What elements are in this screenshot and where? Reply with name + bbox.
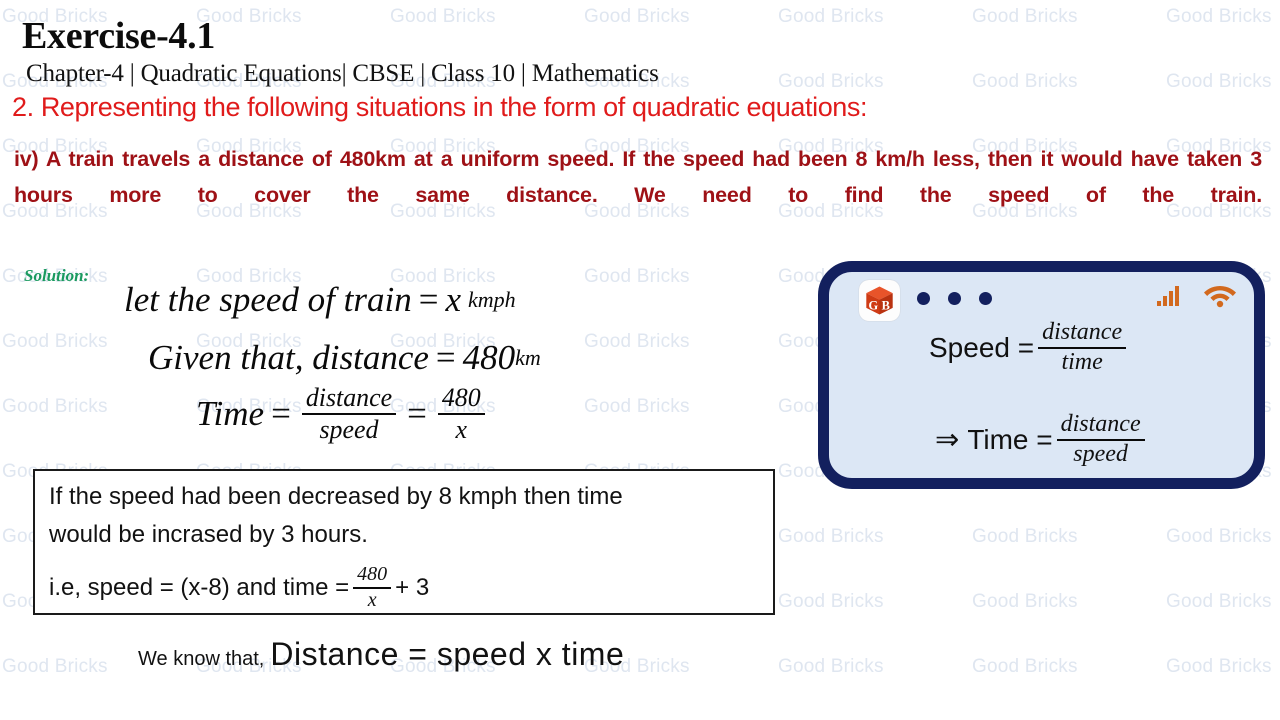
signal-bars-svg bbox=[1156, 284, 1184, 308]
callout-speed-label: Speed = bbox=[929, 332, 1034, 364]
three-dots-indicator bbox=[917, 292, 992, 305]
callout-time-formula: ⇒ Time = distance speed bbox=[935, 412, 1149, 468]
math-unit: km bbox=[515, 345, 541, 371]
fraction-denominator: speed bbox=[1069, 442, 1132, 468]
math-lead-text: Given that, distance bbox=[148, 338, 429, 378]
fraction-denominator: x bbox=[364, 590, 381, 612]
equals-sign: = bbox=[400, 394, 434, 434]
fraction-480-over-x: 480 x bbox=[353, 564, 391, 611]
dot-icon bbox=[917, 292, 930, 305]
svg-text:G: G bbox=[869, 299, 879, 313]
bottom-prefix-text: We know that, bbox=[138, 648, 270, 671]
solution-label: Solution: bbox=[24, 266, 89, 286]
bottom-formula-text: Distance = speed x time bbox=[270, 636, 624, 673]
fraction-denominator: x bbox=[452, 416, 472, 444]
svg-text:B: B bbox=[882, 299, 890, 313]
fraction-distance-over-speed: distance speed bbox=[1057, 412, 1145, 468]
question-heading: 2. Representing the following situations… bbox=[12, 92, 867, 123]
wifi-icon bbox=[1203, 282, 1237, 313]
fraction-distance-over-time: distance time bbox=[1038, 320, 1126, 376]
slide-canvas: Good BricksGood BricksGood BricksGood Br… bbox=[0, 0, 1280, 720]
fraction-numerator: 480 bbox=[438, 384, 485, 412]
dot-icon bbox=[979, 292, 992, 305]
wifi-svg bbox=[1203, 282, 1237, 308]
math-lead-text: Time bbox=[196, 394, 264, 434]
callout-time-label: Time = bbox=[967, 424, 1052, 456]
note-line-1: If the speed had been decreased by 8 kmp… bbox=[49, 483, 623, 511]
note-box: If the speed had been decreased by 8 kmp… bbox=[33, 469, 775, 615]
math-lead-text: let the speed of train bbox=[124, 280, 412, 320]
slide-content: Exercise-4.1 Chapter-4 | Quadratic Equat… bbox=[0, 0, 1280, 720]
note-line-3-prefix: i.e, speed = (x-8) and time = bbox=[49, 574, 349, 602]
fraction-numerator: distance bbox=[1038, 320, 1126, 346]
note-line-3-suffix: + 3 bbox=[395, 574, 429, 602]
fraction-numerator: distance bbox=[1057, 412, 1145, 438]
bottom-formula-line: We know that, Distance = speed x time bbox=[138, 636, 624, 673]
implies-arrow-icon: ⇒ bbox=[935, 422, 967, 457]
formula-callout-card: G B bbox=[818, 261, 1265, 489]
math-line-let-speed: let the speed of train = x kmph bbox=[124, 280, 516, 320]
cube-logo-icon: G B bbox=[859, 280, 900, 321]
math-line-time-formula: Time = distance speed = 480 x bbox=[196, 384, 489, 444]
fraction-denominator: time bbox=[1057, 350, 1106, 376]
equals-sign: = bbox=[429, 338, 463, 378]
equals-sign: = bbox=[412, 280, 446, 320]
fraction-numerator: 480 bbox=[353, 564, 391, 586]
math-value: 480 bbox=[463, 338, 516, 378]
note-line-3: i.e, speed = (x-8) and time = 480 x + 3 bbox=[49, 564, 429, 611]
note-line-2: would be incrased by 3 hours. bbox=[49, 521, 368, 549]
problem-statement: iv) A train travels a distance of 480km … bbox=[14, 141, 1262, 249]
math-variable: x bbox=[445, 280, 461, 320]
page-title: Exercise-4.1 bbox=[22, 14, 215, 58]
breadcrumb-subtitle: Chapter-4 | Quadratic Equations| CBSE | … bbox=[26, 60, 659, 88]
math-line-given-distance: Given that, distance = 480 km bbox=[148, 338, 541, 378]
fraction-numerator: distance bbox=[302, 384, 396, 412]
callout-speed-formula: Speed = distance time bbox=[929, 320, 1130, 376]
cube-logo-svg: G B bbox=[863, 284, 896, 317]
fraction-denominator: speed bbox=[315, 416, 382, 444]
signal-bars-icon bbox=[1156, 284, 1184, 313]
fraction-distance-over-speed: distance speed bbox=[302, 384, 396, 444]
math-unit: kmph bbox=[461, 287, 516, 313]
fraction-480-over-x: 480 x bbox=[438, 384, 485, 444]
equals-sign: = bbox=[264, 394, 298, 434]
dot-icon bbox=[948, 292, 961, 305]
